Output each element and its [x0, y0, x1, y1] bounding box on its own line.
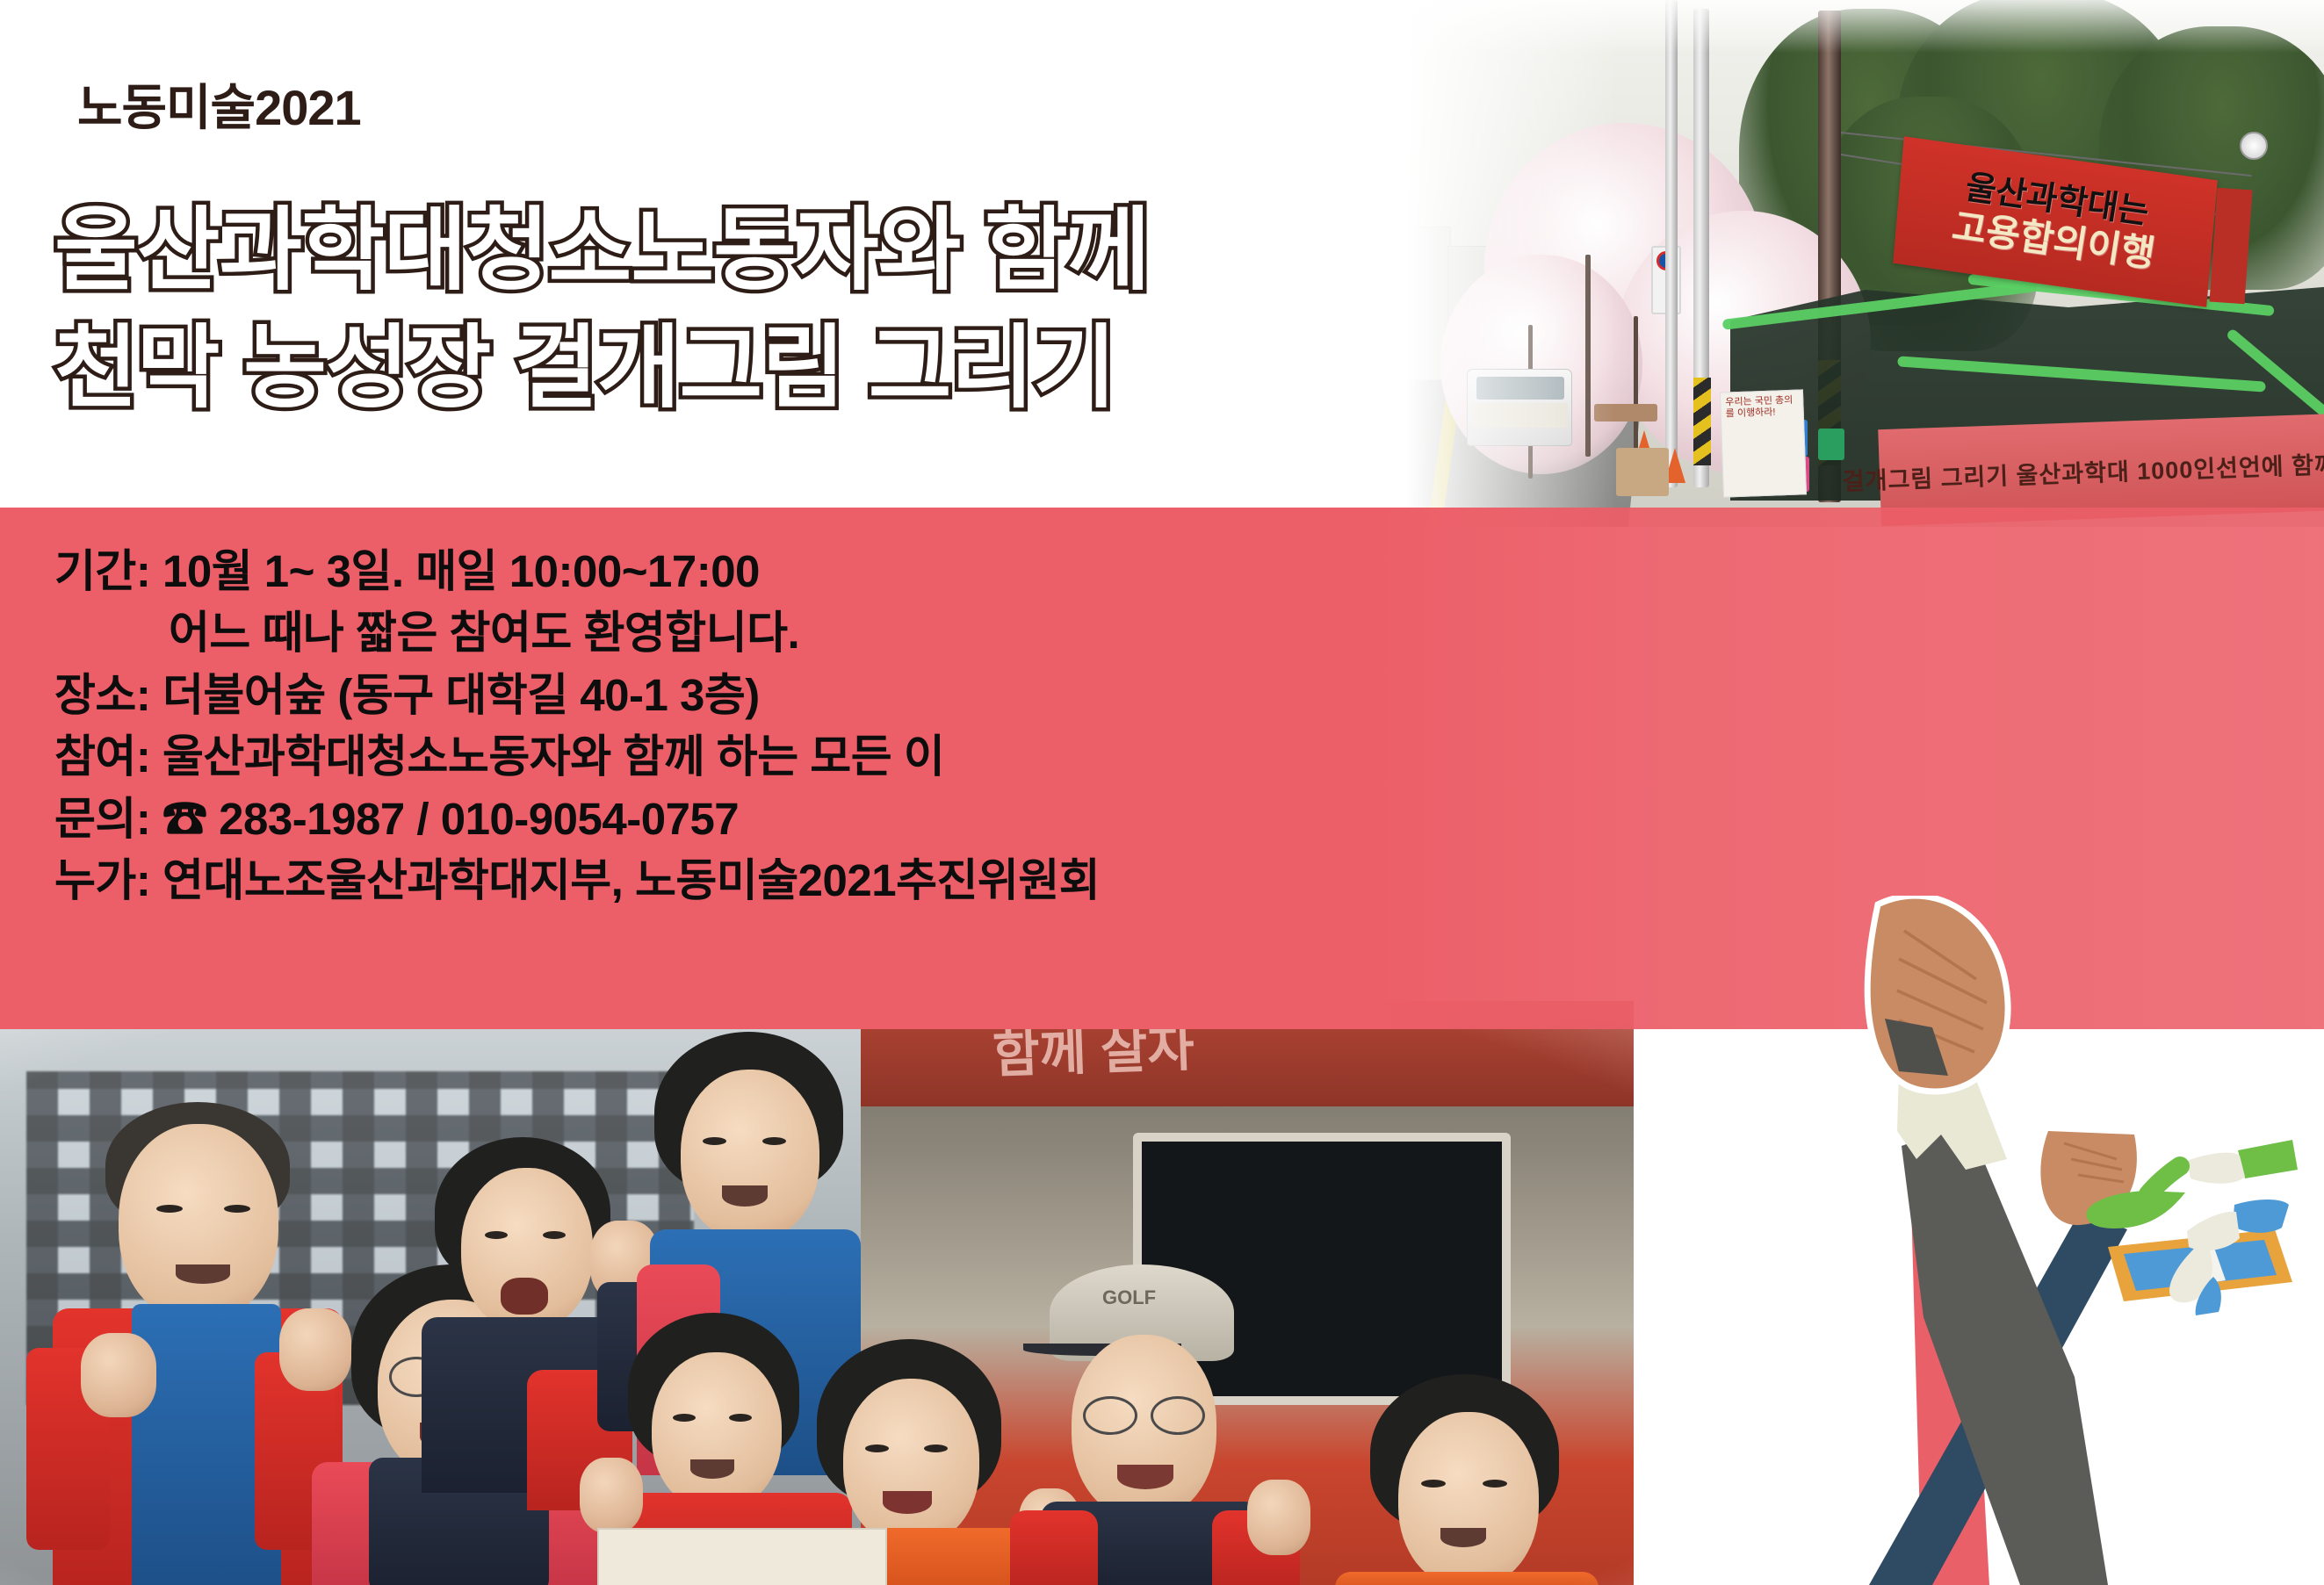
- eye: [673, 1414, 696, 1422]
- glasses-lens: [1083, 1396, 1137, 1435]
- detail-line-contact: 문의: ☎ 283-1987 / 010-9054-0757: [54, 789, 1548, 850]
- glasses-lens: [1151, 1396, 1205, 1435]
- tube-cap-blue: [2233, 1200, 2289, 1233]
- truck-banner: [1473, 403, 1568, 428]
- tube-body-green: [2187, 1153, 2245, 1184]
- cap-logo-text: GOLF: [1102, 1286, 1156, 1309]
- art-supplies-illustration: [1801, 896, 2324, 1585]
- face: [1398, 1412, 1539, 1585]
- detail-line-organizer: 누가: 연대노조울산과학대지부, 노동미술2021추진위원회: [54, 850, 1548, 911]
- background-building: [1353, 191, 1409, 367]
- mouth: [883, 1491, 932, 1514]
- orange-jacket: [1335, 1572, 1599, 1585]
- parked-truck: [1467, 369, 1572, 446]
- raised-fist: [81, 1333, 156, 1417]
- event-details-list: 기간: 10월 1~ 3일. 매일 10:00~17:00 어느 때나 짧은 참…: [54, 541, 1548, 911]
- eye: [865, 1445, 889, 1452]
- supply-crate: [1818, 429, 1844, 460]
- eye: [1483, 1480, 1507, 1488]
- photo-workers-group: 함께 살자: [0, 1001, 1634, 1585]
- eye: [156, 1205, 183, 1213]
- kicker-label: 노동미술2021: [77, 68, 361, 140]
- detail-line-venue: 장소: 더불어숲 (동구 대학길 40-1 3층): [54, 665, 1548, 726]
- tree-trunk: [1585, 255, 1591, 457]
- face: [843, 1379, 979, 1545]
- street-lamp: [2240, 132, 2268, 160]
- mouth: [1440, 1528, 1486, 1547]
- eye: [729, 1414, 752, 1422]
- poster-canvas: 우리는 국민 총의를 이행하라! 울산과학대는 고용합의이행 걸개그림 그리기 …: [0, 0, 2324, 1585]
- mouth: [176, 1264, 230, 1284]
- detail-line-note: 어느 때나 짧은 참여도 환영합니다.: [54, 602, 1548, 664]
- wooden-stool: [1616, 448, 1669, 496]
- detail-line-period: 기간: 10월 1~ 3일. 매일 10:00~17:00: [54, 541, 1548, 602]
- paint-flow-green: [2148, 1166, 2180, 1194]
- raised-fist: [279, 1308, 351, 1391]
- utility-pole: [1665, 0, 1678, 487]
- title-line-1: 울산과학대청소노동자와 함께: [54, 191, 1150, 309]
- eye: [224, 1205, 250, 1213]
- photo-protest-tent: 우리는 국민 총의를 이행하라! 울산과학대는 고용합의이행 걸개그림 그리기 …: [1353, 0, 2324, 527]
- placard: [597, 1528, 887, 1585]
- mouth: [722, 1185, 768, 1207]
- truck-window: [1476, 377, 1564, 400]
- page-title: 울산과학대청소노동자와 함께 천막 농성장 걸개그림 그리기: [54, 191, 1150, 427]
- eye: [485, 1231, 508, 1239]
- eye: [1421, 1480, 1446, 1488]
- face: [652, 1352, 782, 1510]
- open-mouth: [501, 1278, 548, 1315]
- mouth: [690, 1459, 734, 1479]
- face: [681, 1070, 819, 1241]
- face: [119, 1124, 278, 1322]
- tube-cap-green: [2238, 1140, 2298, 1178]
- red-vest: [1010, 1510, 1098, 1585]
- raised-fist: [580, 1458, 643, 1533]
- hazard-stripe: [1693, 378, 1711, 465]
- eye: [924, 1445, 948, 1452]
- eye: [703, 1137, 726, 1145]
- art-supplies-svg: [1801, 896, 2324, 1585]
- wooden-bench: [1594, 404, 1657, 421]
- mouth: [1117, 1465, 1173, 1489]
- eye: [762, 1137, 786, 1145]
- detail-line-audience: 참여: 울산과학대청소노동자와 함께 하는 모든 이: [54, 726, 1548, 788]
- title-line-2: 천막 농성장 걸개그림 그리기: [54, 309, 1150, 427]
- white-notice-sign: 우리는 국민 총의를 이행하라!: [1720, 389, 1807, 497]
- raised-fist: [1247, 1480, 1310, 1555]
- eye: [543, 1231, 566, 1239]
